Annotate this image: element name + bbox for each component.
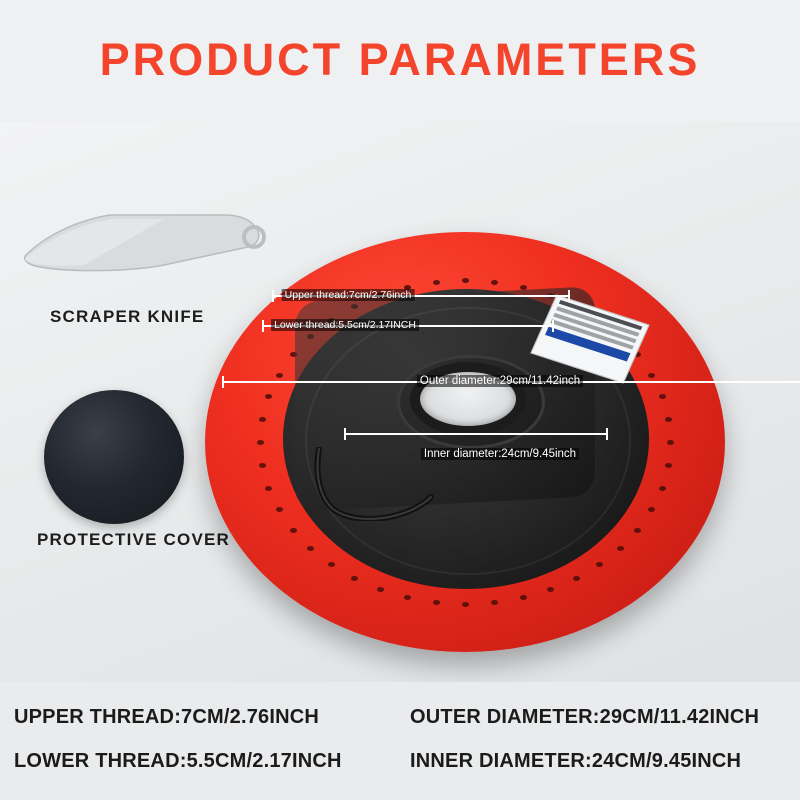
product-photo: SCRAPER KNIFE PROTECTIVE COVER	[0, 122, 800, 682]
inner-diameter-dimension-line	[344, 433, 608, 435]
spec-lower-thread: LOWER THREAD:5.5CM/2.17INCH	[14, 750, 342, 773]
outer-diameter-dimension-label: Outer diameter:29cm/11.42inch	[417, 375, 583, 387]
inner-diameter-dimension-label: Inner diameter:24cm/9.45inch	[421, 448, 579, 460]
page-title: PRODUCT PARAMETERS	[0, 34, 800, 86]
header-banner: PRODUCT PARAMETERS	[0, 0, 800, 122]
spec-upper-thread: UPPER THREAD:7CM/2.76INCH	[14, 706, 319, 729]
protective-cover-label: PROTECTIVE COVER	[37, 530, 230, 550]
scraper-knife-label: SCRAPER KNIFE	[50, 307, 204, 327]
lower-thread-dimension-label: Lower thread:5.5cm/2.17INCH	[271, 319, 419, 331]
product-parameters-page: PRODUCT PARAMETERS SCRAPER KNIFE PROTECT…	[0, 0, 800, 800]
protective-cover-image	[44, 390, 184, 524]
spec-outer-diameter: OUTER DIAMETER:29CM/11.42INCH	[410, 706, 759, 729]
spec-footer: UPPER THREAD:7CM/2.76INCH LOWER THREAD:5…	[0, 682, 800, 800]
upper-thread-dimension-label: Upper thread:7cm/2.76inch	[282, 289, 415, 301]
spec-inner-diameter: INNER DIAMETER:24CM/9.45INCH	[410, 750, 741, 773]
